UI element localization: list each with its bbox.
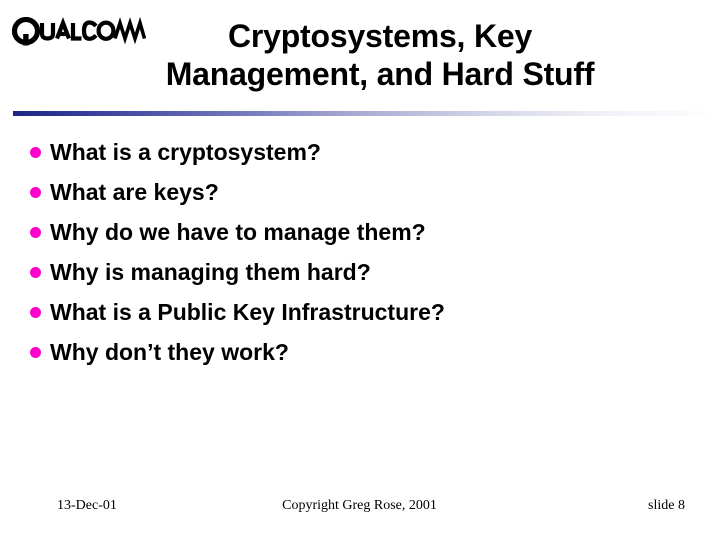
list-item: What is a Public Key Infrastructure? [30, 298, 690, 338]
list-item: What are keys? [30, 178, 690, 218]
bullet-marker-icon [30, 147, 41, 158]
list-item: Why do we have to manage them? [30, 218, 690, 258]
list-item-label: Why is managing them hard? [50, 258, 371, 286]
list-item-label: Why do we have to manage them? [50, 218, 426, 246]
list-item: What is a cryptosystem? [30, 138, 690, 178]
list-item: Why is managing them hard? [30, 258, 690, 298]
footer-copyright: Copyright Greg Rose, 2001 [0, 498, 719, 514]
bullet-marker-icon [30, 347, 41, 358]
slide-title: Cryptosystems, Key Management, and Hard … [120, 17, 640, 93]
list-item: Why don’t they work? [30, 338, 690, 378]
list-item-label: What is a cryptosystem? [50, 138, 321, 166]
bullet-marker-icon [30, 187, 41, 198]
list-item-label: Why don’t they work? [50, 338, 289, 366]
bullet-marker-icon [30, 227, 41, 238]
list-item-label: What is a Public Key Infrastructure? [50, 298, 445, 326]
title-line-1: Cryptosystems, Key [120, 17, 640, 55]
bullet-list: What is a cryptosystem? What are keys? W… [30, 138, 690, 378]
presentation-slide: Cryptosystems, Key Management, and Hard … [0, 0, 719, 539]
footer-slide-number: slide 8 [648, 498, 685, 514]
slide-footer: 13-Dec-01 Copyright Greg Rose, 2001 slid… [0, 498, 719, 520]
bullet-marker-icon [30, 307, 41, 318]
list-item-label: What are keys? [50, 178, 219, 206]
bullet-marker-icon [30, 267, 41, 278]
title-divider [13, 111, 707, 116]
title-line-2: Management, and Hard Stuff [120, 55, 640, 93]
